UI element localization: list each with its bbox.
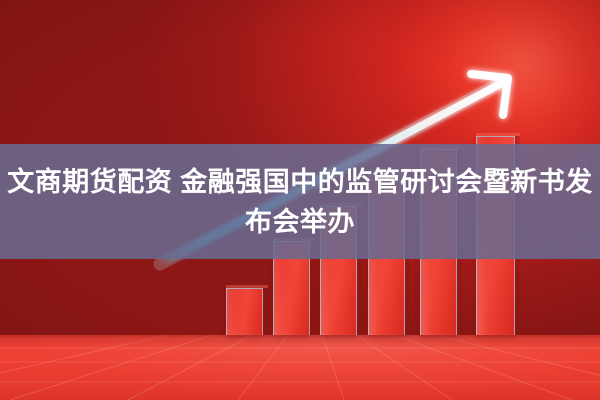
headline-line-2: 布会举办 (245, 202, 355, 242)
news-thumbnail-image: 文商期货配资 金融强国中的监管研讨会暨新书发 布会举办 (0, 0, 600, 400)
bar-1 (226, 288, 263, 335)
headline-banner: 文商期货配资 金融强国中的监管研讨会暨新书发 布会举办 (0, 144, 600, 259)
bar-glass-outline (226, 288, 263, 335)
headline-line-1: 文商期货配资 金融强国中的监管研讨会暨新书发 (0, 162, 600, 202)
bar-side-edge (263, 288, 268, 335)
